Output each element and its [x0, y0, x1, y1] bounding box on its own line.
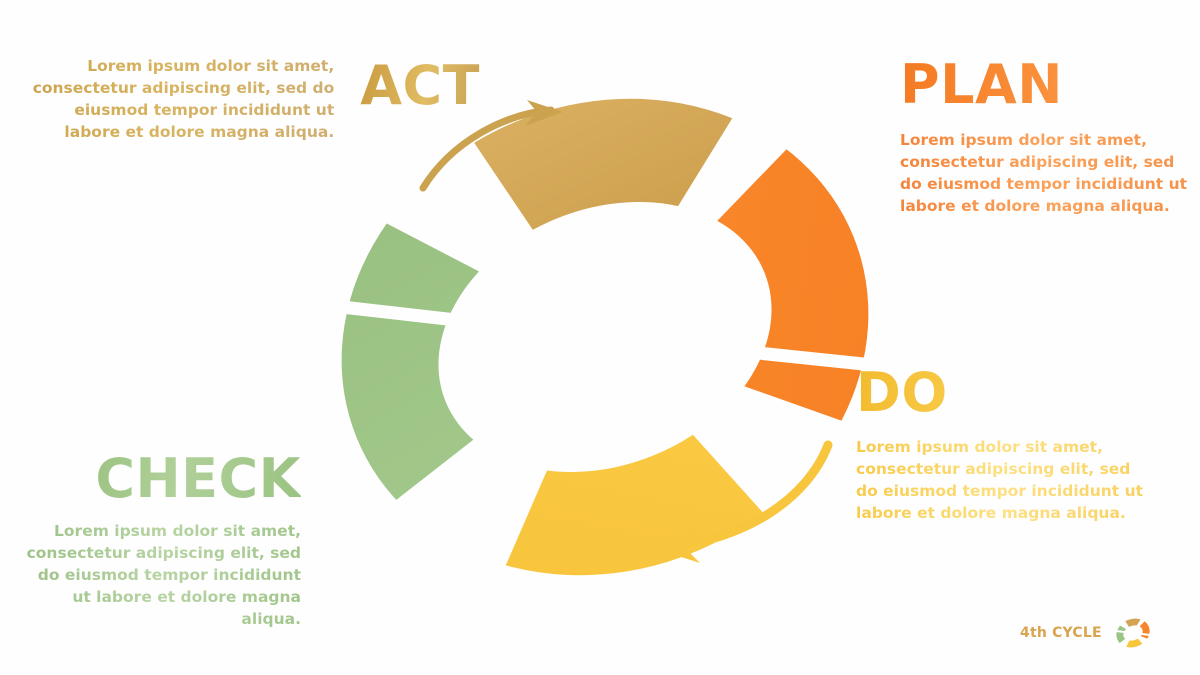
act-body: Lorem ipsum dolor sit amet, consectetur … [14, 55, 334, 143]
section-plan: PLAN Lorem ipsum dolor sit amet, consect… [900, 58, 1190, 217]
infographic-canvas: Lorem ipsum dolor sit amet, consectetur … [0, 0, 1200, 675]
act-title: ACT [360, 59, 480, 113]
do-title: DO [856, 366, 1156, 420]
cycle-ring-mark-icon [1111, 616, 1155, 650]
plan-title: PLAN [900, 58, 1190, 112]
section-act: Lorem ipsum dolor sit amet, consectetur … [10, 55, 480, 143]
check-body: Lorem ipsum dolor sit amet, consectetur … [26, 520, 301, 630]
do-body: Lorem ipsum dolor sit amet, consectetur … [856, 436, 1156, 524]
brand-logo: 4th CYCLE [1020, 616, 1155, 650]
check-title: CHECK [26, 452, 301, 506]
section-do: DO Lorem ipsum dolor sit amet, consectet… [856, 366, 1156, 524]
logo-label: 4th CYCLE [1020, 625, 1102, 641]
section-check: CHECK Lorem ipsum dolor sit amet, consec… [26, 452, 301, 630]
plan-body: Lorem ipsum dolor sit amet, consectetur … [900, 129, 1190, 217]
